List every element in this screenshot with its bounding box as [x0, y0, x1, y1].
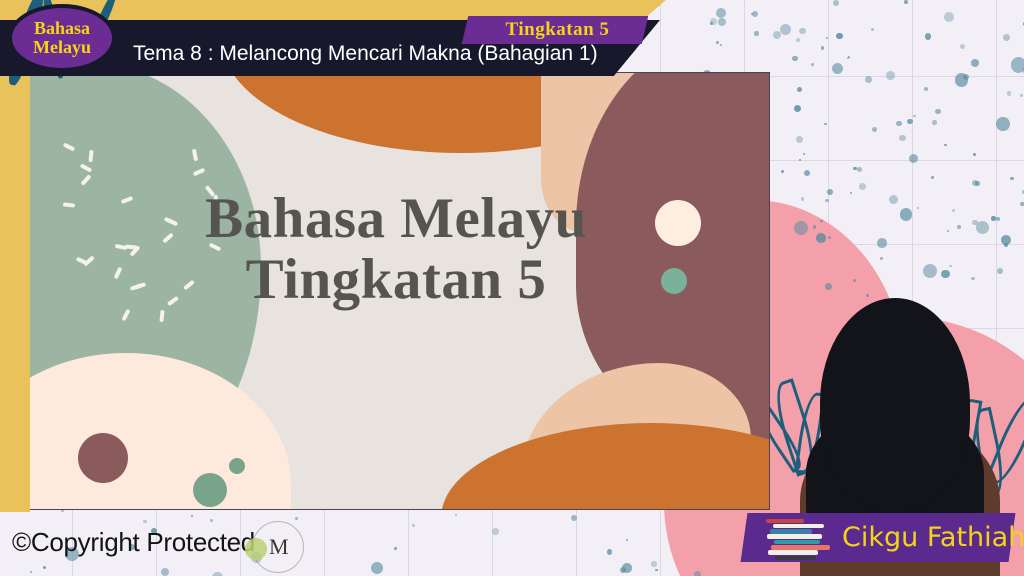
slide-canvas: Bahasa Melayu Tingkatan 5 — [20, 72, 770, 510]
slide-title: Bahasa Melayu Tingkatan 5 — [21, 188, 770, 310]
teacher-name: Cikgu Fathiah — [842, 522, 1024, 553]
dot-green-small — [229, 458, 245, 474]
level-banner-label: Tingkatan 5 — [470, 16, 645, 44]
books-icon — [766, 516, 828, 560]
watermark-dot — [245, 538, 267, 560]
shape-orange-arc-bottom — [441, 423, 770, 510]
dot-green-large — [193, 473, 227, 507]
shape-cream-blob-left — [20, 353, 291, 510]
watermark-letter: M — [269, 534, 289, 560]
teacher-banner: Cikgu Fathiah — [752, 513, 1012, 562]
subject-badge: Bahasa Melayu — [8, 4, 116, 72]
slide-title-line2: Tingkatan 5 — [21, 249, 770, 310]
subject-badge-line1: Bahasa — [34, 19, 90, 38]
watermark-logo: M — [252, 521, 304, 573]
presenter-hijab — [820, 298, 970, 508]
slide-title-line1: Bahasa Melayu — [205, 187, 587, 250]
copyright-notice: ©Copyright Protected — [12, 527, 255, 558]
dot-mauve — [78, 433, 128, 483]
subject-badge-line2: Melayu — [33, 38, 91, 57]
topic-title: Tema 8 : Melancong Mencari Makna (Bahagi… — [133, 42, 598, 66]
